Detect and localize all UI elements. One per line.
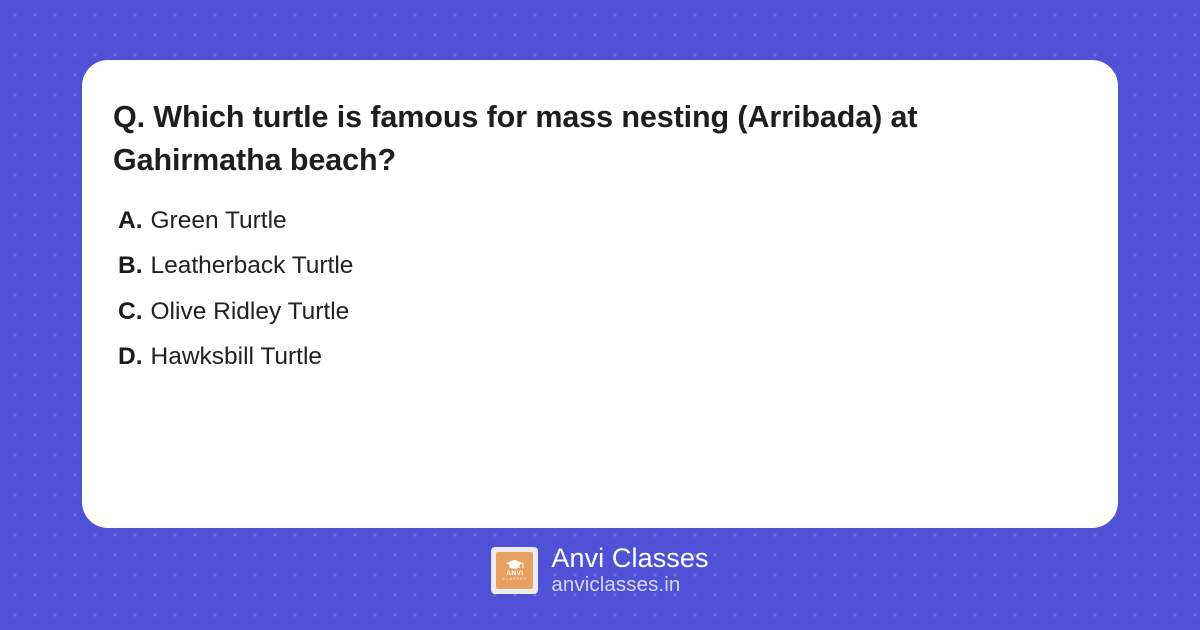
brand-logo: ANVI CLASSES (491, 547, 538, 594)
option-c-text: Olive Ridley Turtle (151, 300, 350, 325)
logo-subtitle-text: CLASSES (503, 578, 527, 582)
brand-title: Anvi Classes (551, 545, 708, 572)
option-b[interactable]: B. Leatherback Turtle (118, 254, 1088, 279)
option-b-text: Leatherback Turtle (151, 254, 354, 279)
option-a[interactable]: A. Green Turtle (118, 209, 1088, 234)
question-text: Q. Which turtle is famous for mass nesti… (112, 96, 1088, 183)
option-d-letter: D. (118, 345, 143, 370)
option-a-text: Green Turtle (151, 209, 287, 234)
logo-square: ANVI CLASSES (496, 552, 533, 589)
graduation-cap-icon (505, 559, 524, 570)
footer-branding: ANVI CLASSES Anvi Classes anviclasses.in (0, 545, 1200, 596)
brand-url[interactable]: anviclasses.in (551, 575, 708, 596)
option-d[interactable]: D. Hawksbill Turtle (118, 345, 1088, 370)
option-c[interactable]: C. Olive Ridley Turtle (118, 300, 1088, 325)
option-c-letter: C. (118, 300, 143, 325)
question-card: Q. Which turtle is famous for mass nesti… (82, 60, 1118, 528)
brand-text-block: Anvi Classes anviclasses.in (551, 545, 708, 596)
option-d-text: Hawksbill Turtle (151, 345, 323, 370)
option-a-letter: A. (118, 209, 143, 234)
options-list: A. Green Turtle B. Leatherback Turtle C.… (112, 209, 1088, 370)
option-b-letter: B. (118, 254, 143, 279)
